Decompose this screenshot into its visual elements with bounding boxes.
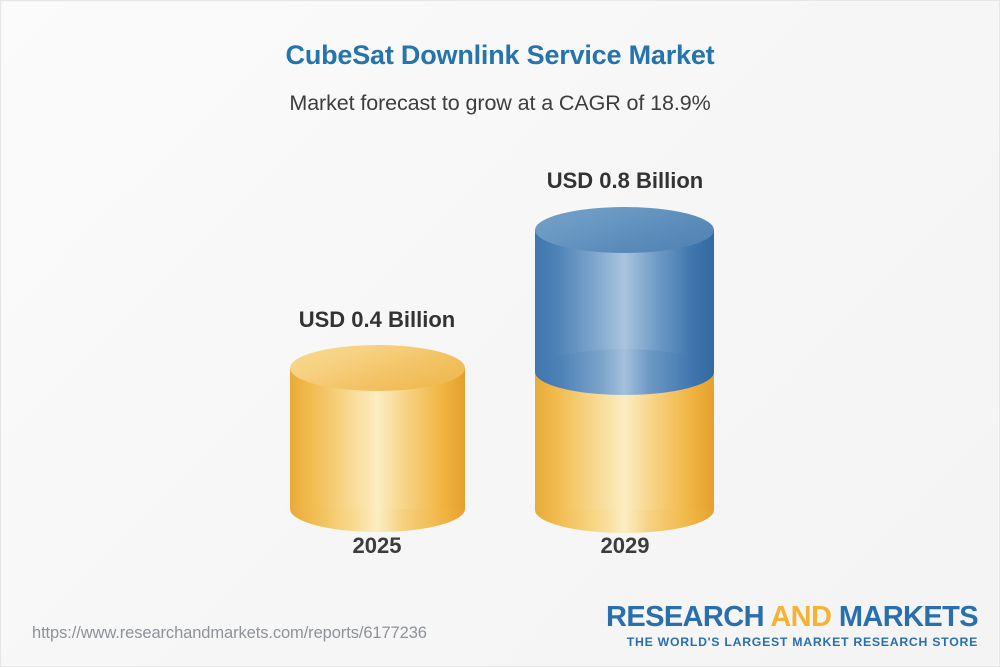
research-and-markets-logo[interactable]: RESEARCH AND MARKETS THE WORLD'S LARGEST… [606, 602, 978, 649]
chart-canvas: CubeSat Downlink Service Market Market f… [0, 0, 1000, 667]
logo-wordmark: RESEARCH AND MARKETS [606, 602, 978, 632]
bar-2029-top-cap [535, 207, 714, 253]
bar-2029-category-label: 2029 [535, 533, 715, 559]
source-url[interactable]: https://www.researchandmarkets.com/repor… [32, 624, 427, 643]
logo-word-research: RESEARCH [606, 601, 764, 633]
bar-2029[interactable] [535, 207, 714, 510]
logo-word-markets: MARKETS [839, 601, 978, 633]
bar-2029-growth-bottom-cap [535, 349, 714, 395]
logo-tagline: THE WORLD'S LARGEST MARKET RESEARCH STOR… [606, 635, 978, 649]
chart-subtitle: Market forecast to grow at a CAGR of 18.… [2, 91, 998, 116]
bar-2025-top-cap [290, 345, 465, 391]
bar-2029-value-label: USD 0.8 Billion [525, 168, 725, 194]
bar-2025[interactable] [290, 345, 465, 510]
logo-word-and: AND [764, 601, 839, 633]
bar-2025-value-label: USD 0.4 Billion [277, 307, 477, 333]
chart-title: CubeSat Downlink Service Market [2, 40, 998, 71]
bar-2025-category-label: 2025 [287, 533, 467, 559]
plot-surface: CubeSat Downlink Service Market Market f… [2, 2, 998, 665]
